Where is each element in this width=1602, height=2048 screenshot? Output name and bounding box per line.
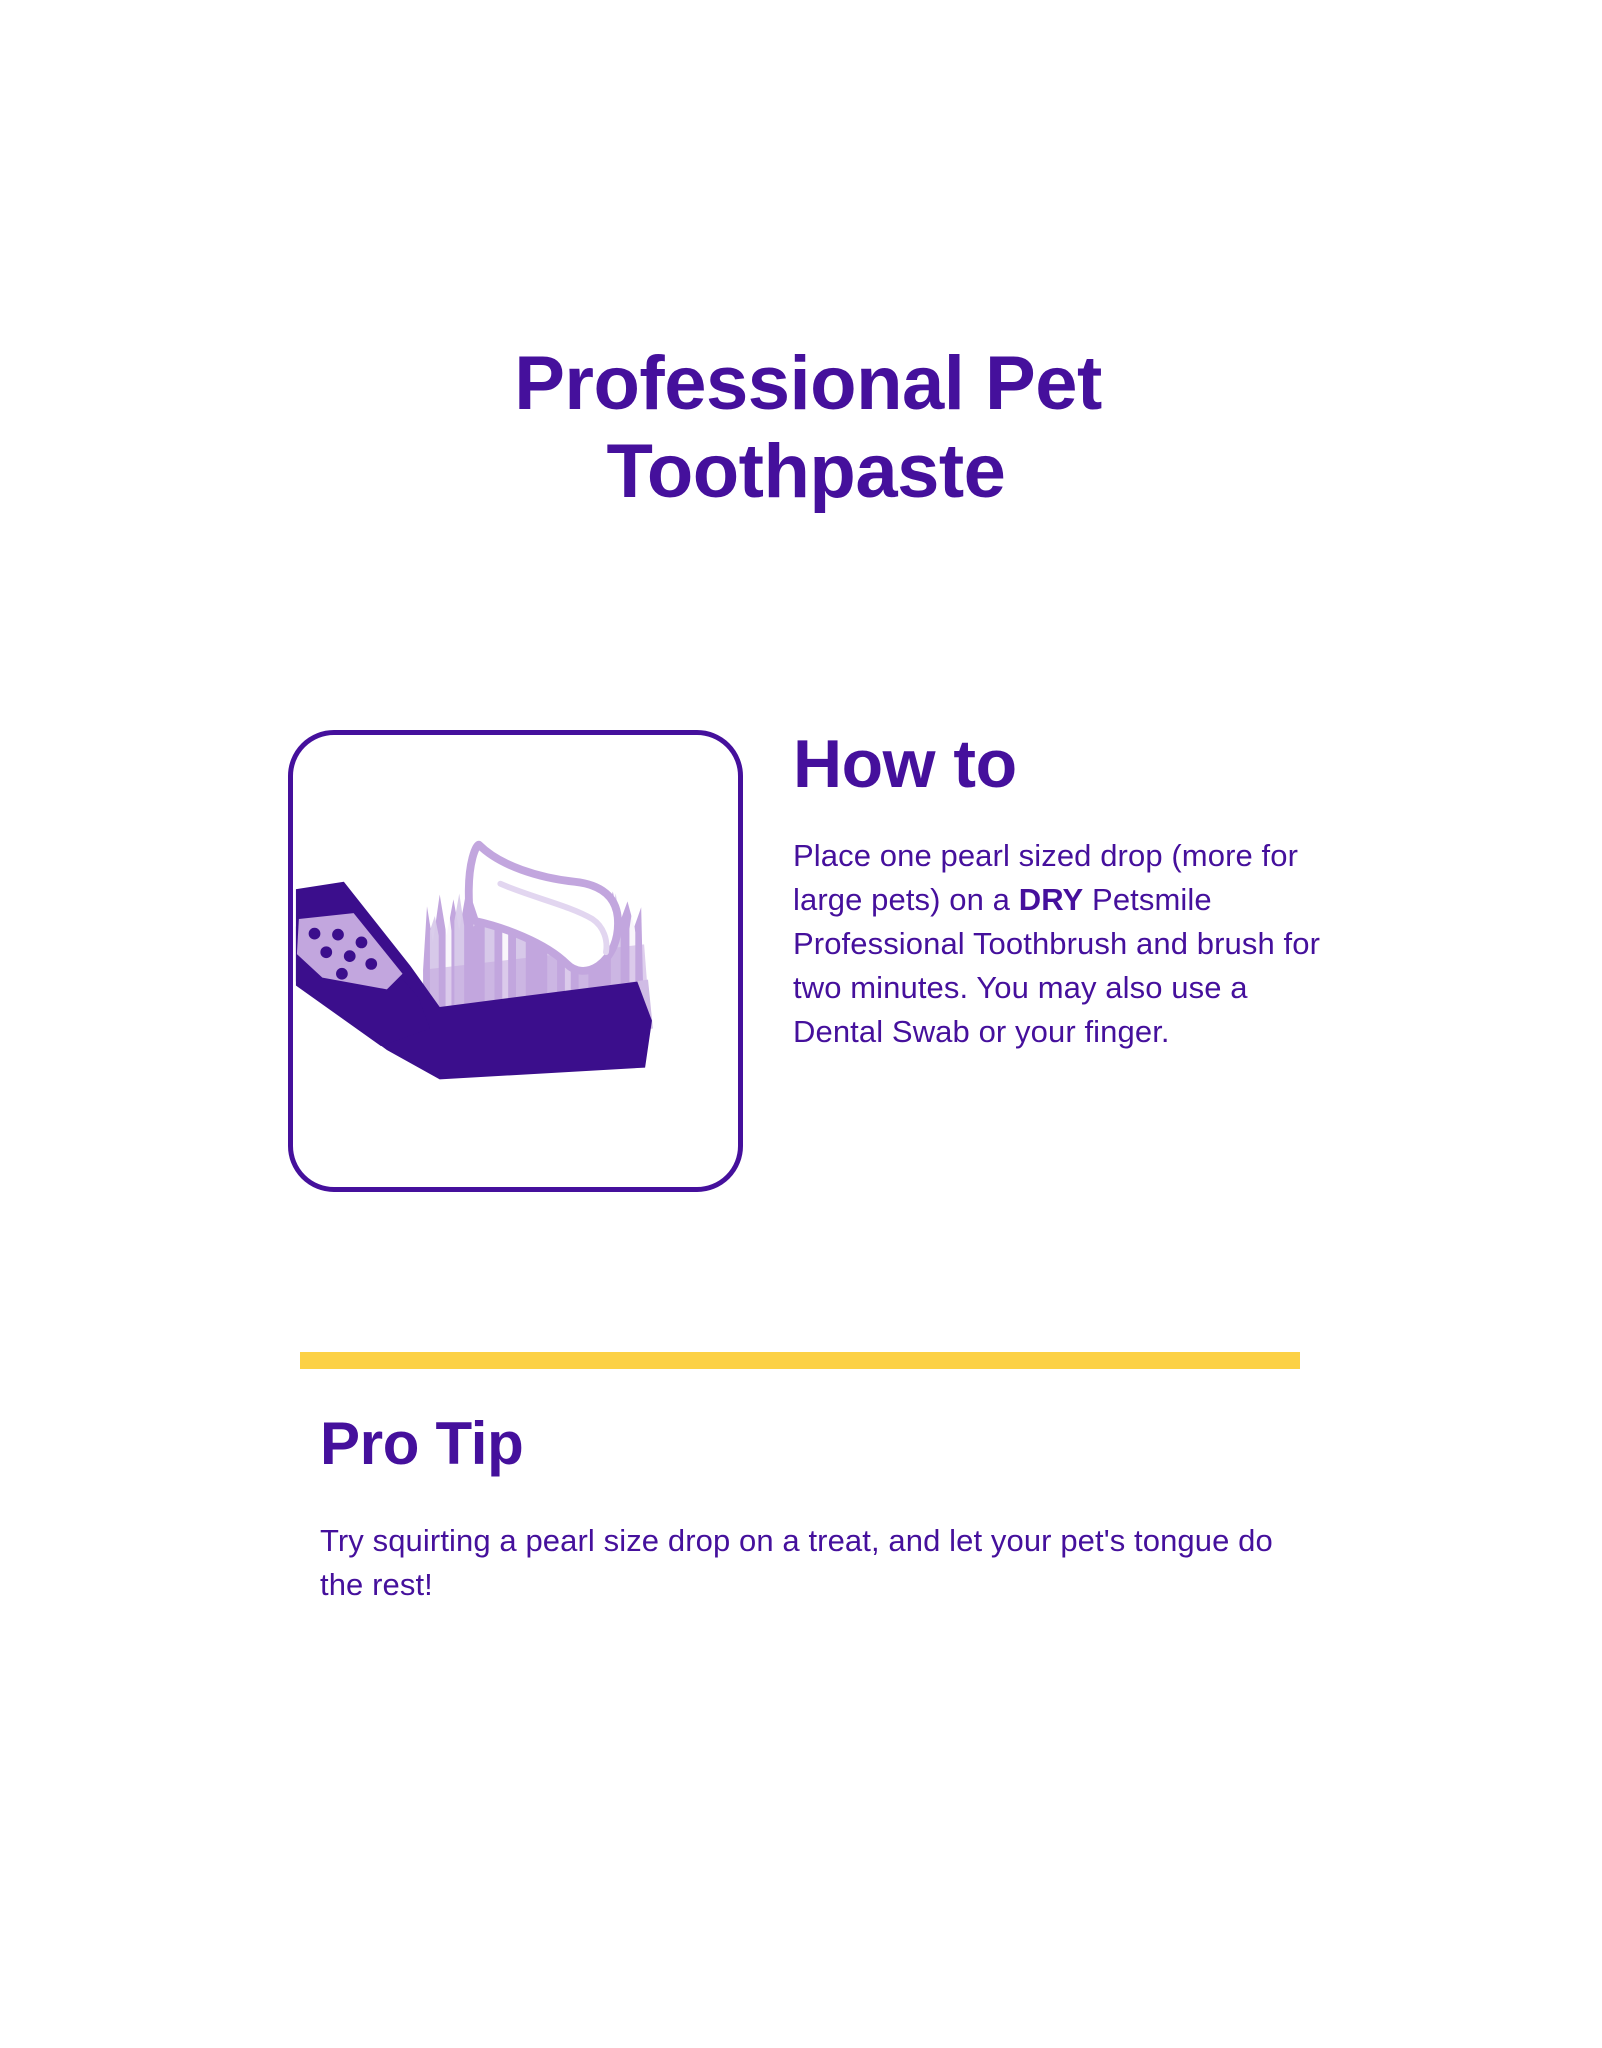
pro-tip-body: Try squirting a pearl size drop on a tre… bbox=[320, 1475, 1280, 1607]
illustration-card bbox=[288, 730, 743, 1192]
how-to-text-block: How to Place one pearl sized drop (more … bbox=[793, 730, 1338, 1054]
page-title: Professional Pet Toothpaste bbox=[0, 340, 1602, 516]
page-title-line-1: Professional Pet bbox=[0, 340, 1602, 428]
instruction-page: Professional Pet Toothpaste bbox=[0, 0, 1602, 2048]
how-to-body-emphasis: DRY bbox=[1019, 882, 1084, 917]
page-title-line-2: Toothpaste bbox=[0, 428, 1602, 516]
pro-tip-section: Pro Tip Try squirting a pearl size drop … bbox=[320, 1412, 1320, 1607]
section-divider bbox=[300, 1352, 1300, 1369]
how-to-section: How to Place one pearl sized drop (more … bbox=[288, 730, 1348, 1210]
pro-tip-heading: Pro Tip bbox=[320, 1412, 1320, 1475]
toothbrush-with-toothpaste-icon bbox=[293, 735, 738, 1187]
how-to-body: Place one pearl sized drop (more for lar… bbox=[793, 798, 1338, 1054]
how-to-heading: How to bbox=[793, 730, 1338, 798]
